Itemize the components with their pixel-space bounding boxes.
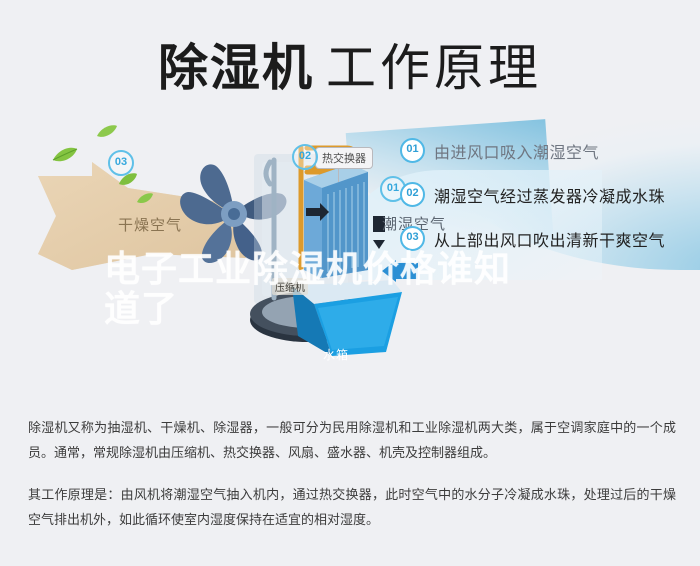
heat-exchanger-fins bbox=[300, 158, 372, 278]
paragraph-1: 除湿机又称为抽湿机、干燥机、除湿器，一般可分为民用除湿机和工业除湿机两大类，属于… bbox=[28, 416, 676, 466]
body-copy: 除湿机又称为抽湿机、干燥机、除湿器，一般可分为民用除湿机和工业除湿机两大类，属于… bbox=[28, 416, 676, 550]
list-item: 03 从上部出风口吹出清新干爽空气 bbox=[400, 226, 680, 251]
page-title: 除湿机工作原理 bbox=[0, 28, 700, 100]
leaf-icon bbox=[136, 192, 154, 205]
infographic-canvas: 除湿机工作原理 bbox=[0, 0, 700, 566]
page-title-primary: 除湿机 bbox=[158, 39, 314, 97]
step-text: 潮湿空气经过蒸发器冷凝成水珠 bbox=[434, 183, 665, 207]
label-dry-air: 干燥空气 bbox=[118, 214, 182, 235]
diagram-badge-03: 03 bbox=[108, 150, 134, 176]
steps-list: 01 由进风口吸入潮湿空气 02 潮湿空气经过蒸发器冷凝成水珠 03 从上部出风… bbox=[400, 138, 680, 270]
list-item: 01 由进风口吸入潮湿空气 bbox=[400, 138, 680, 163]
step-text: 从上部出风口吹出清新干爽空气 bbox=[434, 227, 665, 251]
step-number: 03 bbox=[400, 226, 425, 251]
list-item: 02 潮湿空气经过蒸发器冷凝成水珠 bbox=[400, 182, 680, 207]
label-water-tank: 水箱 bbox=[323, 346, 349, 363]
step-text: 由进风口吸入潮湿空气 bbox=[434, 139, 599, 163]
paragraph-2: 其工作原理是：由风机将潮湿空气抽入机内，通过热交换器，此时空气中的水分子冷凝成水… bbox=[28, 483, 676, 533]
label-heat-exchanger: 热交换器 bbox=[315, 147, 373, 169]
step-number: 01 bbox=[400, 138, 425, 163]
leaf-icon bbox=[96, 124, 118, 139]
step-number: 02 bbox=[400, 182, 425, 207]
diagram-badge-02: 02 bbox=[292, 144, 318, 170]
page-title-secondary: 工作原理 bbox=[326, 40, 542, 96]
label-compressor: 压缩机 bbox=[272, 278, 308, 295]
leaf-icon bbox=[52, 146, 78, 164]
